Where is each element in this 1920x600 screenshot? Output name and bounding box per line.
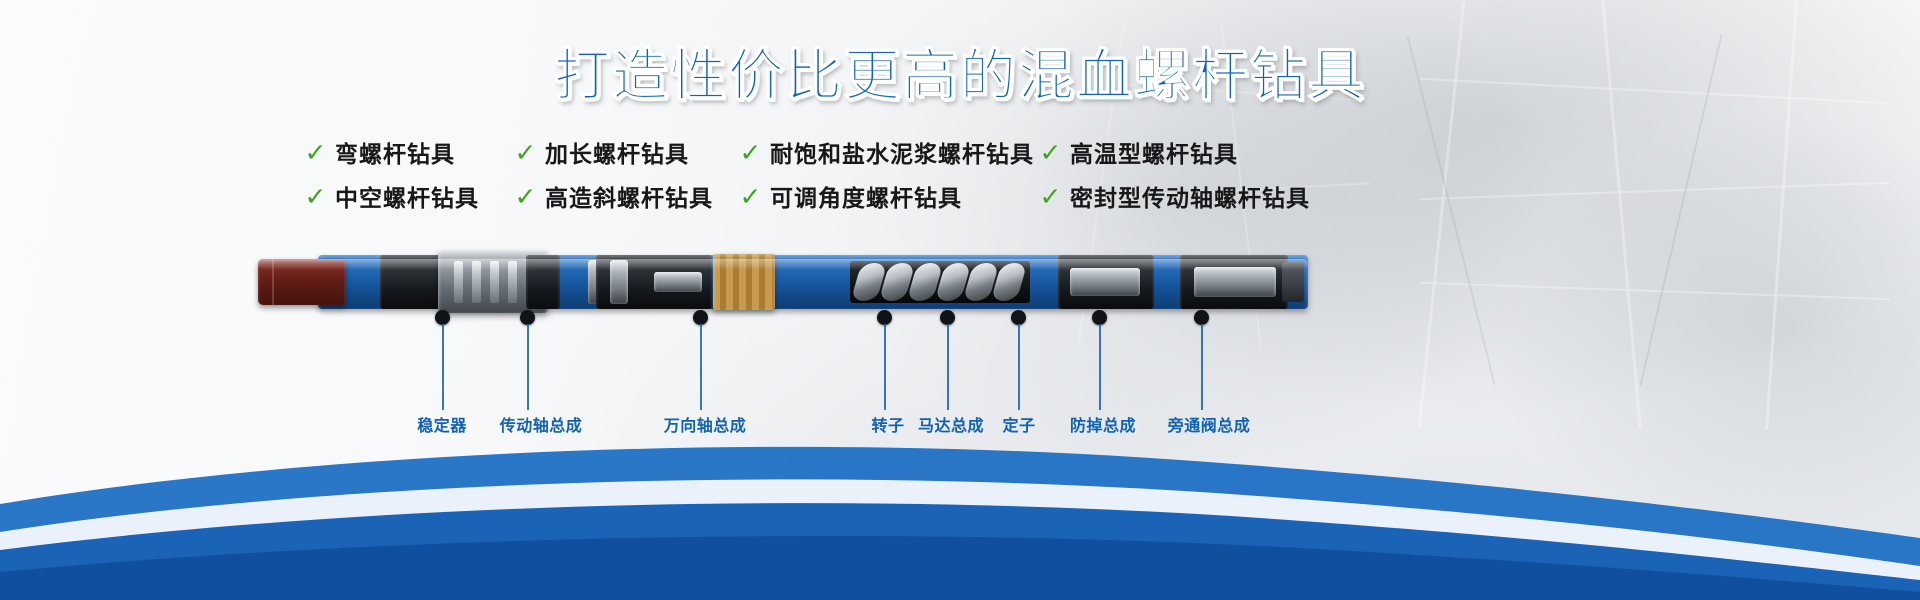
shaft-detail: [654, 272, 702, 292]
feature-label: 中空螺杆钻具: [335, 179, 479, 213]
feature-item[interactable]: ✓ 耐饱和盐水泥浆螺杆钻具: [740, 135, 1040, 169]
callout-dot: [1194, 310, 1209, 325]
feature-item[interactable]: ✓ 可调角度螺杆钻具: [740, 179, 1040, 213]
feature-item[interactable]: ✓ 中空螺杆钻具: [305, 179, 515, 213]
feature-label: 高造斜螺杆钻具: [545, 179, 713, 213]
feature-label: 耐饱和盐水泥浆螺杆钻具: [770, 135, 1034, 169]
callout-dot: [940, 310, 955, 325]
callout-dot: [877, 310, 892, 325]
check-icon: ✓: [304, 184, 326, 209]
anti-drop-detail: [1070, 268, 1140, 296]
feature-row: ✓ 弯螺杆钻具 ✓ 加长螺杆钻具 ✓ 耐饱和盐水泥浆螺杆钻具 ✓ 高温型螺杆钻具: [305, 135, 1595, 179]
callout-dot: [693, 310, 708, 325]
rotor-window: [850, 261, 1030, 303]
brass-band: [713, 254, 775, 310]
tool-tail-end: [1282, 262, 1304, 302]
callout-leader-line: [527, 324, 529, 410]
page-title: 打造性价比更高的混血螺杆钻具: [0, 46, 1920, 108]
feature-list: ✓ 弯螺杆钻具 ✓ 加长螺杆钻具 ✓ 耐饱和盐水泥浆螺杆钻具 ✓ 高温型螺杆钻具…: [305, 135, 1595, 223]
check-icon: ✓: [514, 184, 536, 209]
feature-label: 密封型传动轴螺杆钻具: [1070, 179, 1310, 213]
feature-item[interactable]: ✓ 密封型传动轴螺杆钻具: [1040, 179, 1340, 213]
drill-tool-assembly: [258, 248, 1308, 316]
check-icon: ✓: [739, 184, 761, 209]
callout-leader-line: [947, 324, 949, 410]
callout-dot: [1092, 310, 1107, 325]
callout-leader-line: [442, 324, 444, 410]
check-icon: ✓: [304, 140, 326, 165]
check-icon: ✓: [514, 140, 536, 165]
check-icon: ✓: [739, 140, 761, 165]
feature-item[interactable]: ✓ 高造斜螺杆钻具: [515, 179, 740, 213]
feature-item[interactable]: ✓ 加长螺杆钻具: [515, 135, 740, 169]
check-icon: ✓: [1039, 184, 1061, 209]
feature-label: 高温型螺杆钻具: [1070, 135, 1238, 169]
feature-item[interactable]: ✓ 高温型螺杆钻具: [1040, 135, 1340, 169]
callout-leader-line: [1099, 324, 1101, 410]
feature-label: 加长螺杆钻具: [545, 135, 689, 169]
product-banner: 打造性价比更高的混血螺杆钻具 ✓ 弯螺杆钻具 ✓ 加长螺杆钻具 ✓ 耐饱和盐水泥…: [0, 0, 1920, 600]
callout-leader-line: [1018, 324, 1020, 410]
shaft-detail: [610, 260, 628, 304]
callout-leader-line: [1201, 324, 1203, 410]
callout-dot: [1011, 310, 1026, 325]
check-icon: ✓: [1039, 140, 1061, 165]
tool-red-end-cap: [258, 259, 346, 305]
tool-joint: [380, 255, 442, 309]
feature-label: 弯螺杆钻具: [335, 135, 455, 169]
feature-row: ✓ 中空螺杆钻具 ✓ 高造斜螺杆钻具 ✓ 可调角度螺杆钻具 ✓ 密封型传动轴螺杆…: [305, 179, 1595, 223]
callout-dot: [435, 310, 450, 325]
feature-label: 可调角度螺杆钻具: [770, 179, 962, 213]
bypass-valve-detail: [1194, 267, 1276, 297]
feature-item[interactable]: ✓ 弯螺杆钻具: [305, 135, 515, 169]
footer-wave: [0, 420, 1920, 600]
callout-leader-line: [700, 324, 702, 410]
callout-leader-line: [884, 324, 886, 410]
callout-dot: [520, 310, 535, 325]
tool-joint: [526, 255, 560, 309]
